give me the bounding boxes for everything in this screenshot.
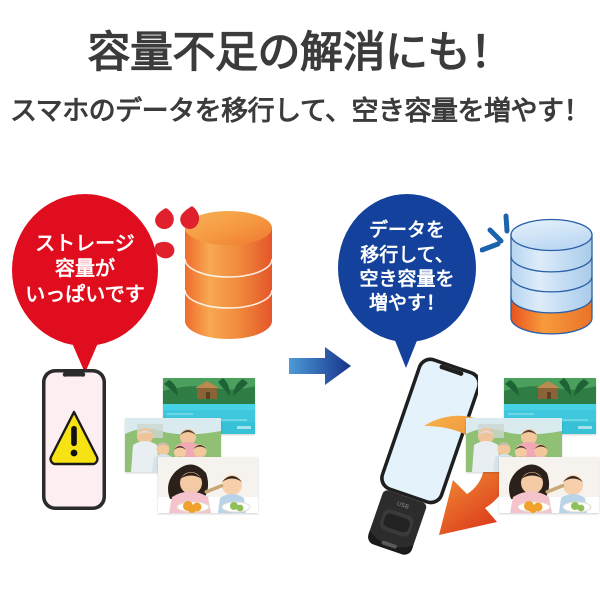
database-full-icon [152,196,276,344]
photo-meal [499,457,599,513]
speech-bubble-migrate-data: データを 移行して、 空き容量を 増やす！ [338,194,476,342]
page-title: 容量不足の解消にも！ [0,30,600,77]
photos-left [125,378,265,513]
speech-bubble-storage-full: ストレージ 容量が いっぱいです [12,194,158,346]
photos-right [466,378,600,513]
speech-bubble-storage-full-text: ストレージ 容量が いっぱいです [25,232,144,309]
photo-meal-image [158,457,258,513]
database-free [480,208,595,336]
database-free-icon [480,208,595,336]
speech-bubble-migrate-data-text: データを 移行して、 空き容量を 増やす！ [359,219,454,316]
phone-warning-icon [40,367,108,512]
page-subtitle: スマホのデータを移行して、空き容量を増やす！ [0,96,600,127]
sparkle-icon [482,216,507,250]
database-full [152,196,276,344]
infographic-canvas: 容量不足の解消にも！ スマホのデータを移行して、空き容量を増やす！ ストレージ … [0,0,600,600]
transfer-arrow-icon [289,345,351,387]
photo-meal [158,457,258,513]
transfer-arrow [289,345,351,387]
photo-meal-image [499,457,599,513]
phone-warning [40,367,108,512]
